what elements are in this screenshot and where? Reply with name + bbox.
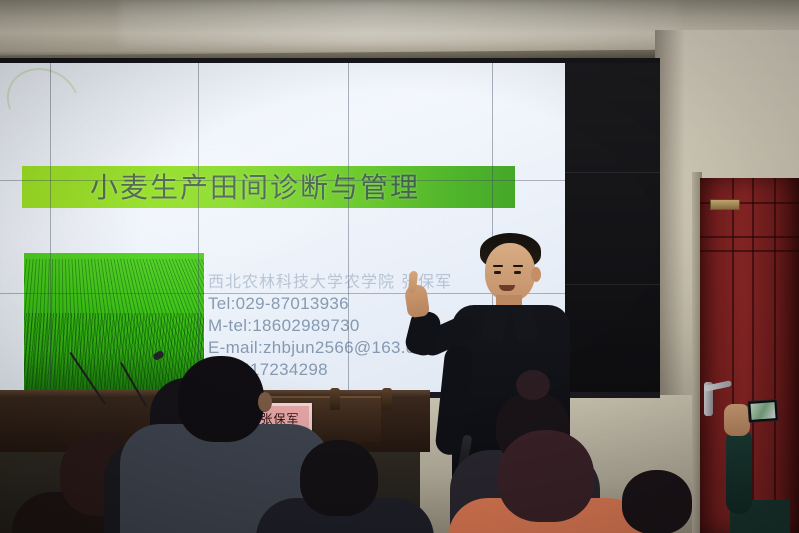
audience-member-head [498,430,594,522]
door-groove-line [774,178,776,533]
audience-member-head [622,470,692,533]
audience-member-head [300,440,378,516]
door-groove-line [700,236,799,238]
phone-user-hand [724,404,750,436]
presenter-eye [514,271,521,274]
ceiling-light-reflection [120,0,680,46]
desk-post [330,388,340,410]
phone-screen [750,402,775,420]
door-groove-line [700,250,799,252]
presenter-ear [531,267,541,282]
audience-member-ear [258,392,272,412]
audience-member-head [178,356,264,442]
presenter-eyebrow [493,265,503,267]
door-plaque [710,199,740,210]
presenter-eyebrow [513,265,523,267]
audience-member-hair-bun [516,370,550,400]
lecture-room-photo: 小麦生产田间诊断与管理 西北农林科技大学农学院 张保军 Tel:029-8701… [0,0,799,533]
presenter-eye [494,271,501,274]
mobile-phone [747,399,778,423]
presenter-head [485,243,535,301]
desk-post [382,388,392,410]
phone-user-arm [726,428,752,514]
door-groove-line [752,178,754,533]
